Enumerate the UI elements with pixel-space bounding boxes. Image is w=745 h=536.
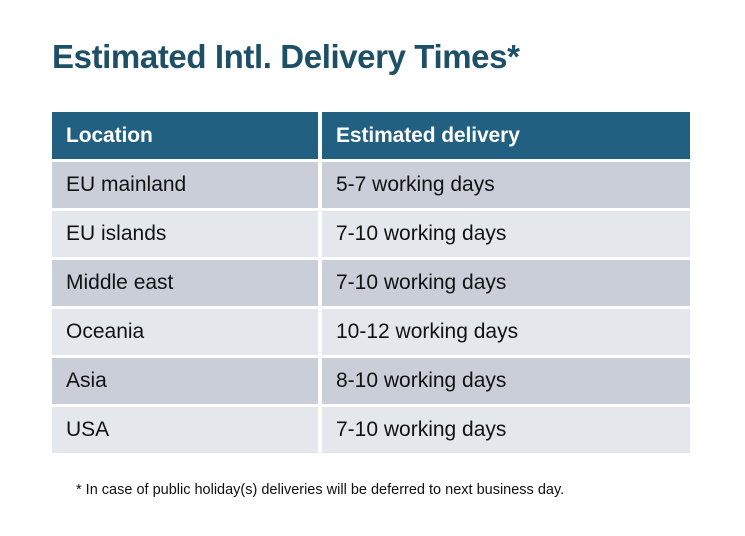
cell-location: EU islands: [52, 211, 318, 257]
cell-location: Asia: [52, 358, 318, 404]
cell-estimated-delivery: 7-10 working days: [322, 260, 690, 306]
column-header-estimated-delivery: Estimated delivery: [322, 112, 690, 159]
cell-location: USA: [52, 407, 318, 453]
footnote-text: * In case of public holiday(s) deliverie…: [76, 481, 564, 500]
table-row: EU islands 7-10 working days: [52, 211, 690, 257]
table-row: USA 7-10 working days: [52, 407, 690, 453]
table-row: EU mainland 5-7 working days: [52, 162, 690, 208]
table-row: Oceania 10-12 working days: [52, 309, 690, 355]
column-header-location: Location: [52, 112, 318, 159]
page-title: Estimated Intl. Delivery Times*: [52, 36, 520, 78]
table-header-row: Location Estimated delivery: [52, 112, 690, 159]
table-row: Asia 8-10 working days: [52, 358, 690, 404]
cell-estimated-delivery: 10-12 working days: [322, 309, 690, 355]
cell-estimated-delivery: 8-10 working days: [322, 358, 690, 404]
delivery-times-table: Location Estimated delivery EU mainland …: [52, 112, 690, 453]
delivery-times-page: Estimated Intl. Delivery Times* Location…: [0, 0, 745, 536]
cell-estimated-delivery: 5-7 working days: [322, 162, 690, 208]
table-row: Middle east 7-10 working days: [52, 260, 690, 306]
cell-location: Middle east: [52, 260, 318, 306]
cell-location: Oceania: [52, 309, 318, 355]
cell-estimated-delivery: 7-10 working days: [322, 211, 690, 257]
cell-location: EU mainland: [52, 162, 318, 208]
cell-estimated-delivery: 7-10 working days: [322, 407, 690, 453]
